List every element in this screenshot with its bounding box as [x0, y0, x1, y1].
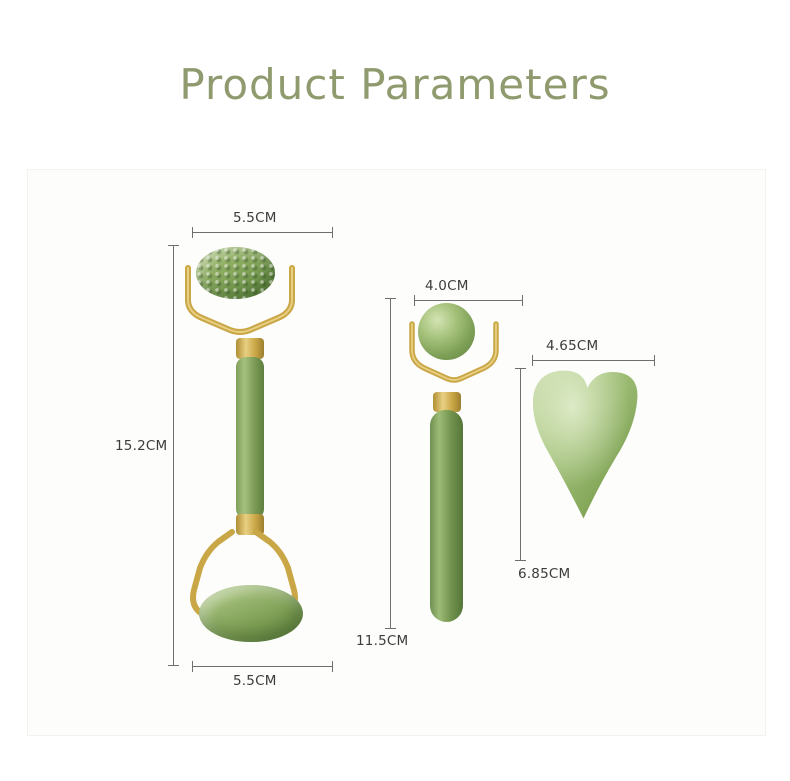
dimension-label: 4.0CM: [425, 278, 469, 294]
single-roller-handle: [430, 410, 463, 622]
dimension-label: 5.5CM: [233, 673, 277, 689]
page-title: Product Parameters: [0, 60, 790, 109]
gua-sha-stone-shape: [524, 364, 643, 529]
single-roller-yoke-icon: [404, 318, 504, 398]
dimension-label: 6.85CM: [518, 566, 570, 582]
dimension-label: 11.5CM: [356, 633, 408, 649]
dimension-label: 15.2CM: [115, 438, 167, 454]
roller-upper-yoke-icon: [180, 260, 300, 350]
dimension-label: 4.65CM: [546, 338, 598, 354]
dimension-label: 5.5CM: [233, 210, 277, 226]
product-photo-panel: 5.5CM 15.2CM 5.5CM: [28, 170, 765, 735]
roller-smooth-head: [199, 585, 303, 642]
roller-handle: [236, 357, 264, 519]
product-parameters-page: Product Parameters: [0, 0, 790, 781]
roller-upper-collar: [236, 338, 264, 359]
single-roller-collar: [433, 392, 461, 412]
